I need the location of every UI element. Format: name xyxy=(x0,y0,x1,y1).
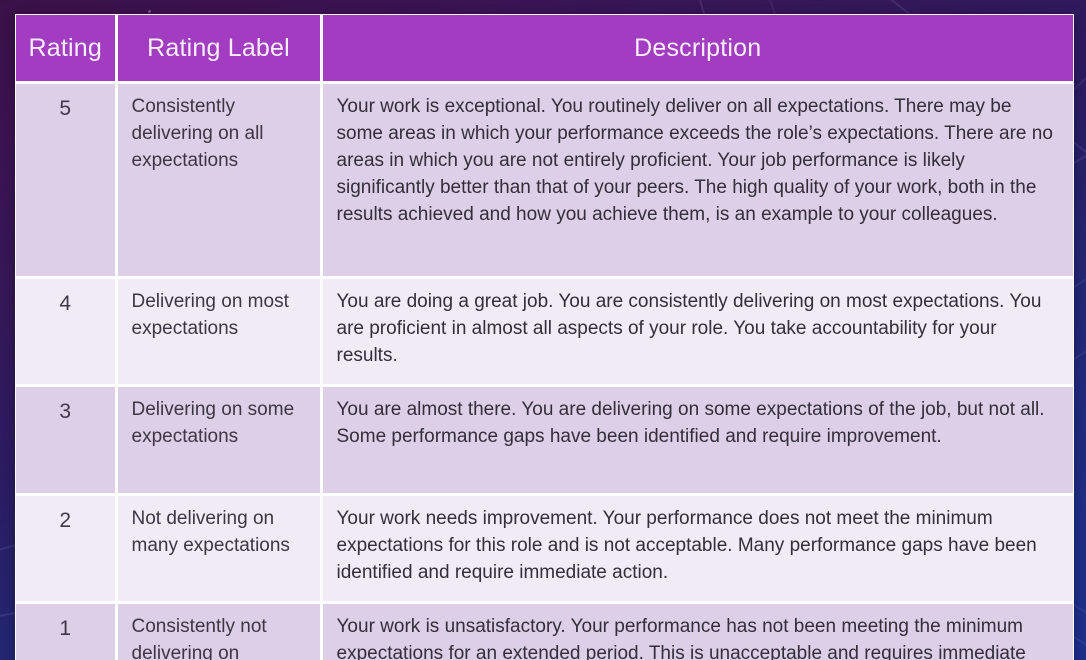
table-row: 3 Delivering on some expectations You ar… xyxy=(16,385,1073,494)
cell-description: You are doing a great job. You are consi… xyxy=(321,278,1073,386)
cell-description: You are almost there. You are delivering… xyxy=(321,385,1073,494)
header-row: Rating Rating Label Description xyxy=(16,15,1073,83)
cell-rating-label: Delivering on most expectations xyxy=(116,278,321,386)
table-body: 5 Consistently delivering on all expecta… xyxy=(16,83,1073,660)
table-row: 2 Not delivering on many expectations Yo… xyxy=(16,494,1073,602)
column-header-rating-label: Rating Label xyxy=(116,15,321,83)
cell-description: Your work is exceptional. You routinely … xyxy=(321,83,1073,278)
cell-rating: 1 xyxy=(16,602,116,660)
table-row: 1 Consistently not delivering on minimum… xyxy=(16,602,1073,660)
slide-background: Rating Rating Label Description 5 Consis… xyxy=(0,0,1086,660)
rating-scale-table: Rating Rating Label Description 5 Consis… xyxy=(15,14,1074,660)
column-header-description: Description xyxy=(321,15,1073,83)
cell-rating-label: Not delivering on many expectations xyxy=(116,494,321,602)
table-row: 4 Delivering on most expectations You ar… xyxy=(16,278,1073,386)
rating-table: Rating Rating Label Description 5 Consis… xyxy=(16,15,1073,660)
table-header: Rating Rating Label Description xyxy=(16,15,1073,83)
cell-rating: 5 xyxy=(16,83,116,278)
cell-rating-label: Consistently delivering on all expectati… xyxy=(116,83,321,278)
cell-rating: 4 xyxy=(16,278,116,386)
column-header-rating: Rating xyxy=(16,15,116,83)
cell-rating-label: Delivering on some expectations xyxy=(116,385,321,494)
cell-rating: 3 xyxy=(16,385,116,494)
table-row: 5 Consistently delivering on all expecta… xyxy=(16,83,1073,278)
background-dot-one xyxy=(148,10,151,13)
cell-rating: 2 xyxy=(16,494,116,602)
cell-description: Your work is unsatisfactory. Your perfor… xyxy=(321,602,1073,660)
cell-description: Your work needs improvement. Your perfor… xyxy=(321,494,1073,602)
cell-rating-label: Consistently not delivering on minimum e… xyxy=(116,602,321,660)
